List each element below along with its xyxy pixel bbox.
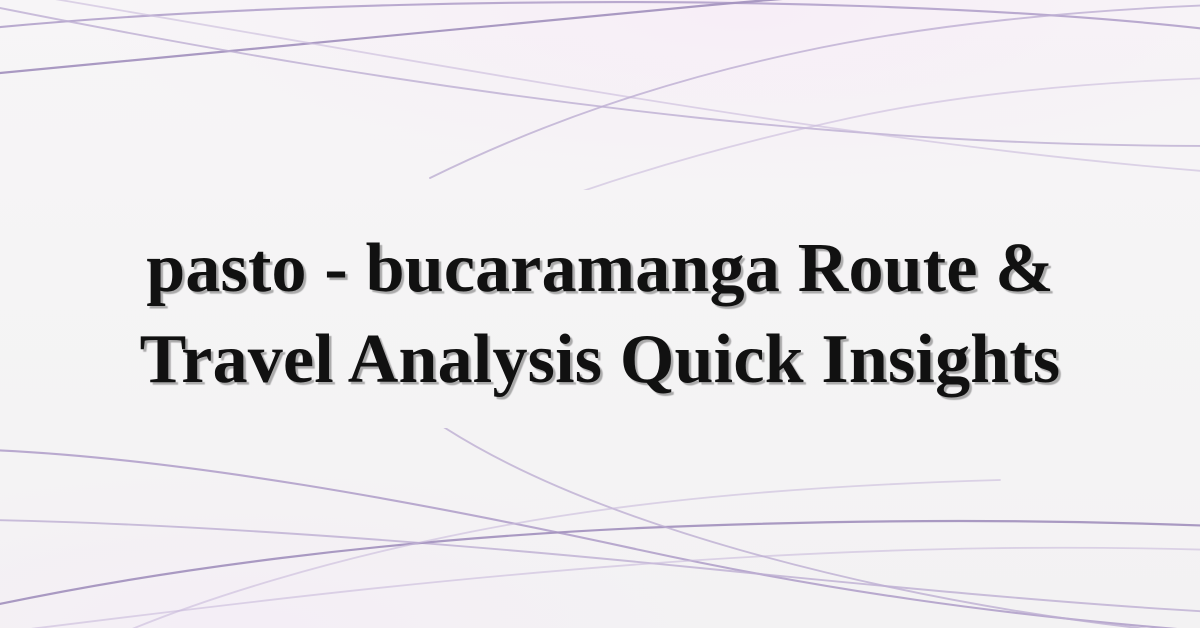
- banner-canvas: pasto - bucaramanga Route & Travel Analy…: [0, 0, 1200, 628]
- title-block: pasto - bucaramanga Route & Travel Analy…: [0, 0, 1200, 628]
- page-title: pasto - bucaramanga Route & Travel Analy…: [120, 223, 1080, 405]
